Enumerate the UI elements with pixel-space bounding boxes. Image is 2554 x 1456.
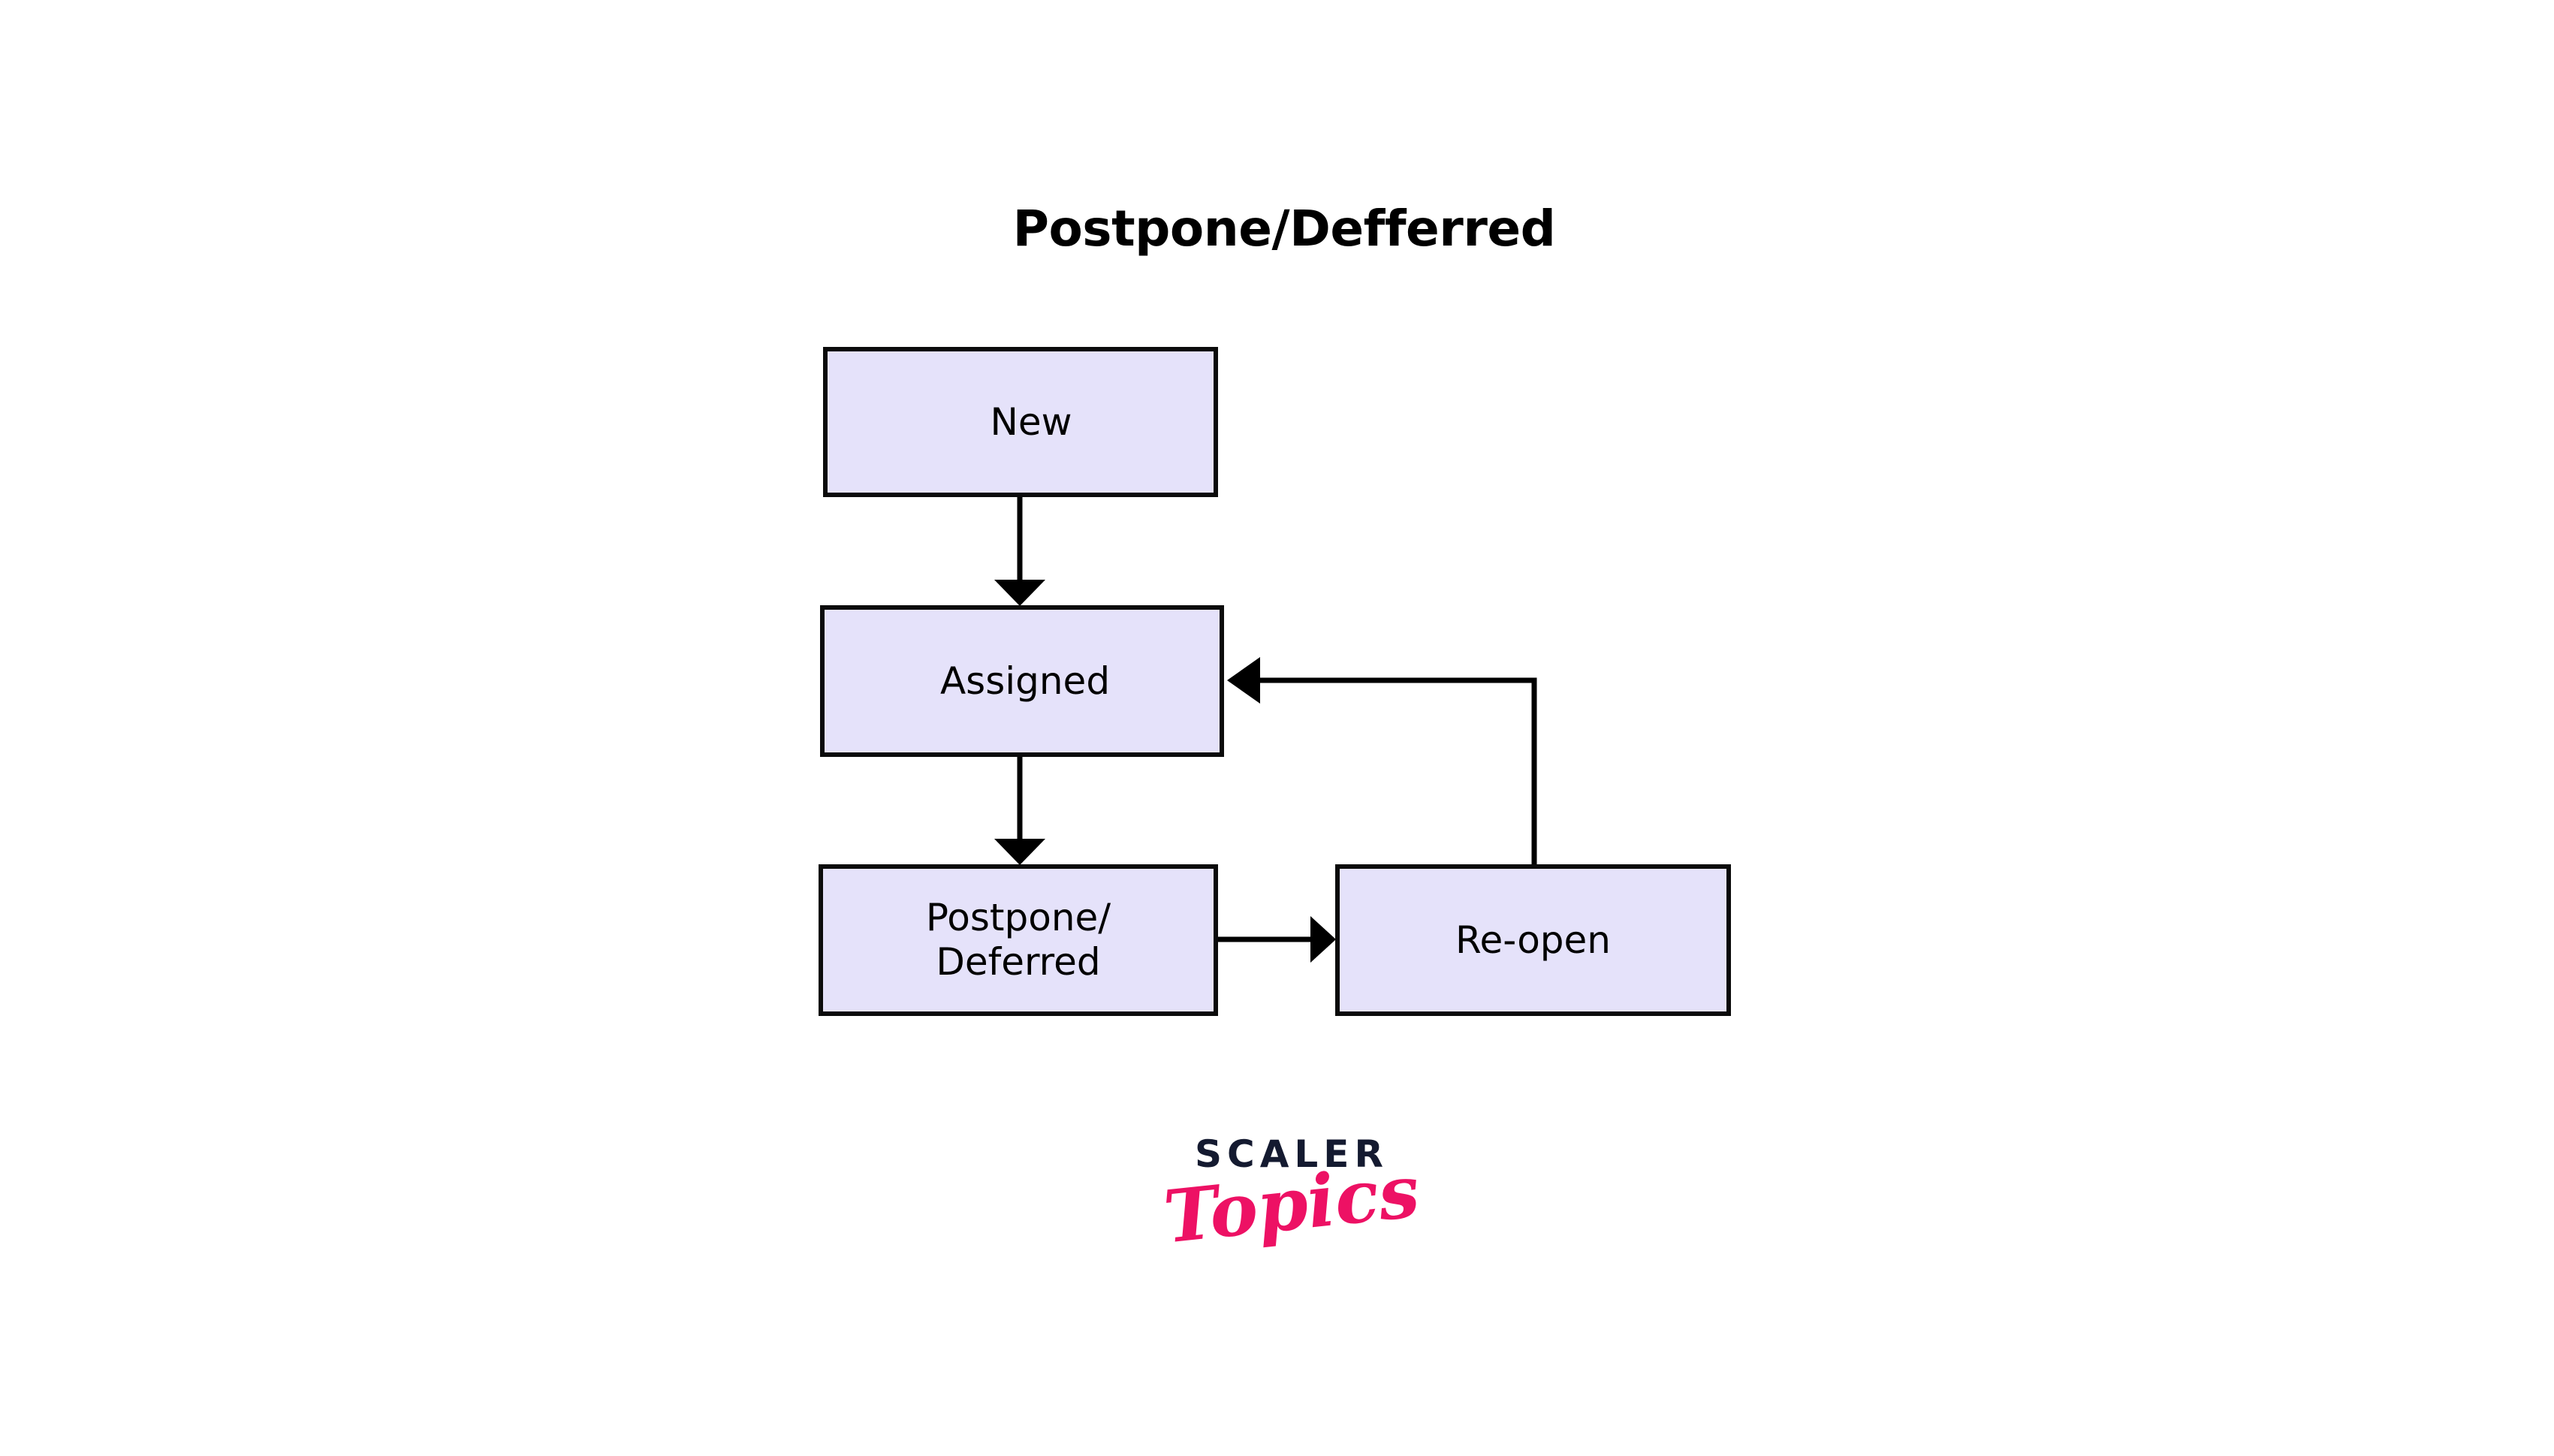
edge-assigned-to-postpone <box>994 757 1045 865</box>
node-assigned[interactable]: Assigned <box>820 605 1224 757</box>
node-reopen-label: Re-open <box>1448 918 1618 963</box>
page-title: Postpone/Defferred <box>834 204 1735 254</box>
node-postpone-deferred[interactable]: Postpone/ Deferred <box>819 864 1218 1016</box>
node-reopen[interactable]: Re-open <box>1335 864 1731 1016</box>
node-postpone-line1: Postpone/ <box>926 896 1111 939</box>
scaler-topics-logo: SCALER Topics <box>1156 1135 1427 1361</box>
edge-new-to-assigned <box>994 497 1045 606</box>
edge-reopen-to-assigned <box>1227 657 1534 864</box>
node-assigned-label: Assigned <box>933 659 1117 704</box>
edge-postpone-to-reopen <box>1218 916 1336 963</box>
node-new[interactable]: New <box>823 347 1218 497</box>
node-postpone-line2: Deferred <box>936 940 1100 984</box>
node-postpone-deferred-label: Postpone/ Deferred <box>918 896 1118 984</box>
diagram-canvas: Postpone/Defferred New <box>0 0 2554 1456</box>
node-new-label: New <box>982 400 1079 445</box>
